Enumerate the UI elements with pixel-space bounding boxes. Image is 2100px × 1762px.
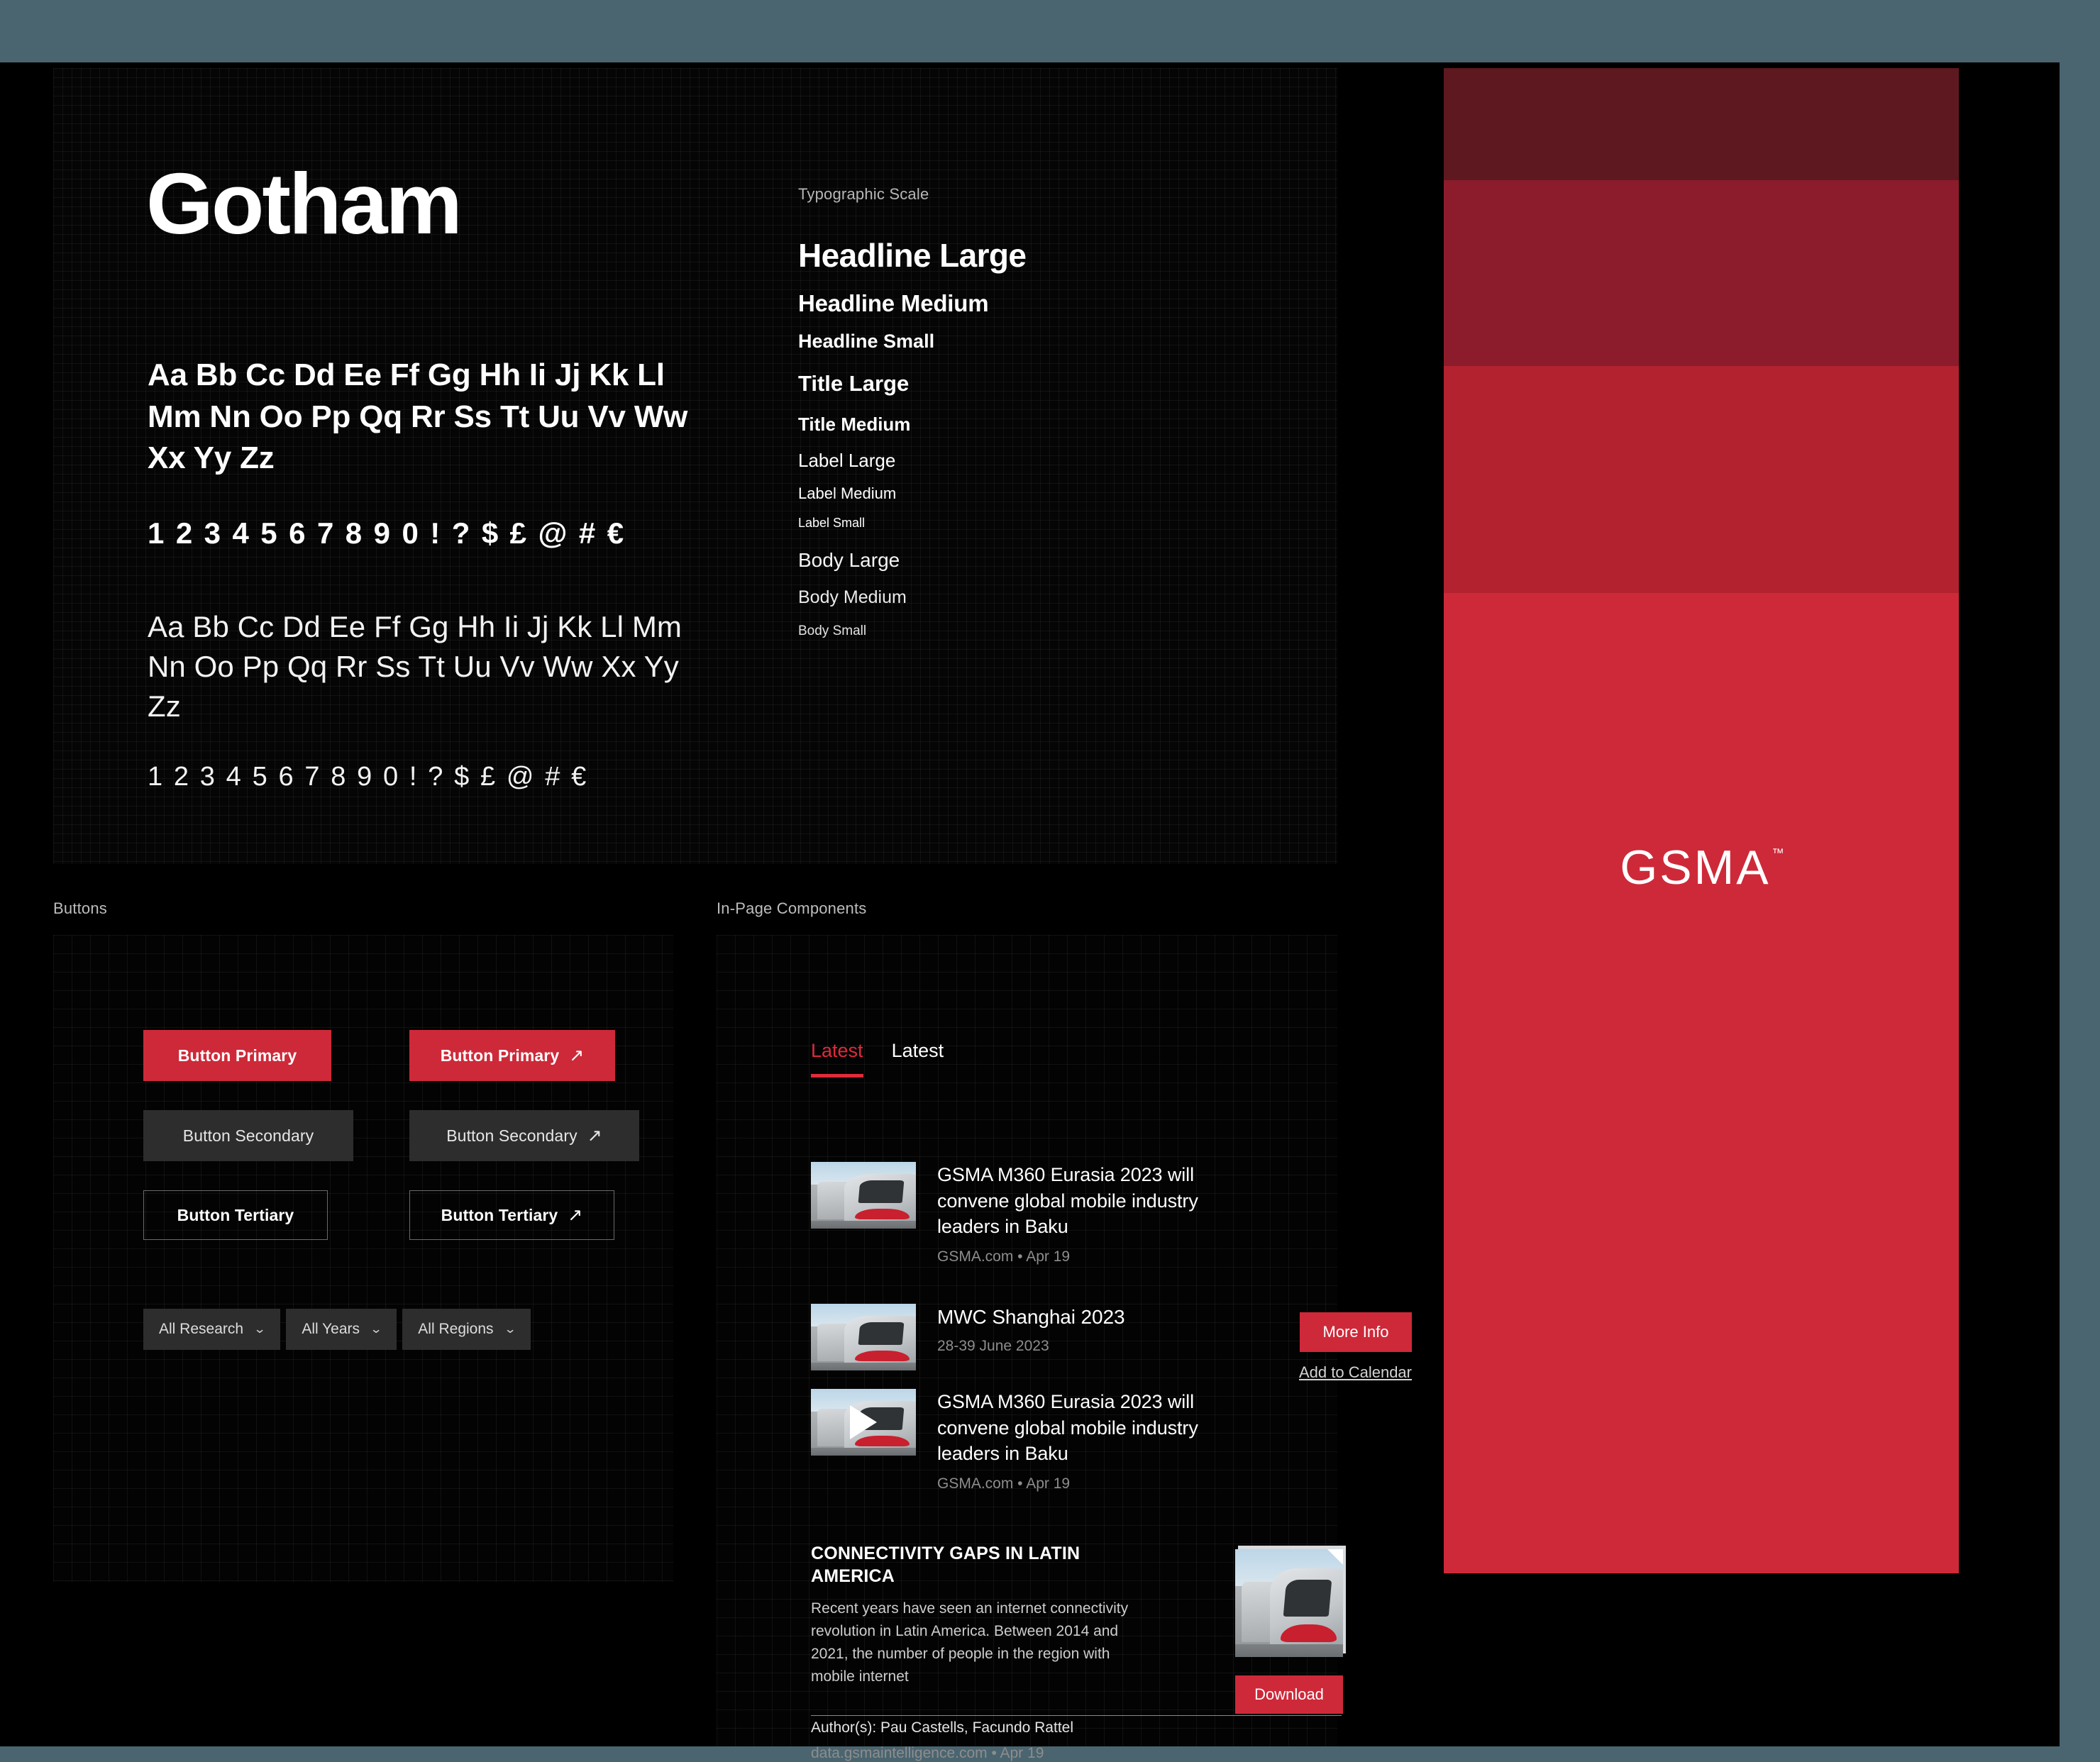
- button-tertiary[interactable]: Button Tertiary: [143, 1190, 328, 1240]
- list-item[interactable]: MWC Shanghai 2023 28-39 June 2023: [811, 1304, 1249, 1370]
- alphabet-bold-specimen: Aa Bb Cc Dd Ee Ff Gg Hh Ii Jj Kk Ll Mm N…: [148, 355, 715, 480]
- button-secondary[interactable]: Button Secondary: [143, 1110, 353, 1161]
- section-label-buttons: Buttons: [53, 899, 107, 918]
- page-fold-icon: [1327, 1549, 1343, 1565]
- filter-all-years-label: All Years: [302, 1321, 360, 1338]
- color-swatch-darkest: [1444, 68, 1959, 180]
- scale-body-small: Body Small: [798, 624, 1252, 639]
- chevron-down-icon: ⌄: [253, 1322, 266, 1336]
- card-meta: GSMA.com • Apr 19: [937, 1248, 1249, 1265]
- add-to-calendar-link[interactable]: Add to Calendar: [1270, 1363, 1412, 1382]
- scale-label-large: Label Large: [798, 450, 1252, 472]
- gsma-logo: GSMA™: [1444, 840, 1959, 895]
- button-secondary-external-label: Button Secondary: [446, 1126, 577, 1146]
- tab-latest-secondary-label: Latest: [892, 1040, 944, 1061]
- scale-title-large: Title Large: [798, 371, 1252, 397]
- scale-body-medium: Body Medium: [798, 587, 1252, 608]
- card-body: GSMA M360 Eurasia 2023 will convene glob…: [937, 1162, 1249, 1265]
- arrow-up-right-icon: ↗: [569, 1045, 584, 1066]
- scale-title-medium: Title Medium: [798, 414, 1252, 436]
- filter-all-research[interactable]: All Research ⌄: [143, 1309, 280, 1350]
- card-title: GSMA M360 Eurasia 2023 will convene glob…: [937, 1389, 1249, 1467]
- download-button[interactable]: Download: [1235, 1675, 1343, 1714]
- button-secondary-label: Button Secondary: [183, 1126, 314, 1146]
- screenshot-stage: Gotham Aa Bb Cc Dd Ee Ff Gg Hh Ii Jj Kk …: [0, 0, 2100, 1746]
- color-swatch-dark: [1444, 180, 1959, 366]
- font-family-name: Gotham: [146, 160, 460, 247]
- card-body: MWC Shanghai 2023 28-39 June 2023: [937, 1304, 1249, 1370]
- filter-all-years[interactable]: All Years ⌄: [286, 1309, 397, 1350]
- arrow-up-right-icon: ↗: [587, 1125, 602, 1146]
- list-item[interactable]: GSMA M360 Eurasia 2023 will convene glob…: [811, 1162, 1249, 1265]
- research-authors: Author(s): Pau Castells, Facundo Rattel: [811, 1719, 1144, 1736]
- scale-headline-small: Headline Small: [798, 331, 1252, 353]
- video-thumbnail[interactable]: [811, 1389, 916, 1456]
- card-title: MWC Shanghai 2023: [937, 1304, 1249, 1331]
- scale-headline-medium: Headline Medium: [798, 290, 1252, 317]
- scale-body-large: Body Large: [798, 549, 1252, 572]
- brand-color-panel: GSMA™: [1444, 68, 1959, 1573]
- button-secondary-external[interactable]: Button Secondary ↗: [409, 1110, 639, 1161]
- filter-chip-group: All Research ⌄ All Years ⌄ All Regions ⌄: [143, 1309, 531, 1350]
- color-swatch-mid: [1444, 366, 1959, 593]
- more-info-button[interactable]: More Info: [1300, 1312, 1412, 1352]
- buttons-panel: Button Primary Button Primary ↗ Button S…: [53, 935, 673, 1582]
- card-body: GSMA M360 Eurasia 2023 will convene glob…: [937, 1389, 1249, 1492]
- card-meta: 28-39 June 2023: [937, 1338, 1249, 1355]
- numerals-light-specimen: 1 2 3 4 5 6 7 8 9 0 ! ? $ £ @ # €: [148, 762, 588, 792]
- button-primary-external[interactable]: Button Primary ↗: [409, 1030, 615, 1081]
- tab-latest-secondary[interactable]: Latest: [892, 1040, 944, 1077]
- event-thumbnail: [811, 1304, 916, 1370]
- research-card[interactable]: CONNECTIVITY GAPS IN LATIN AMERICA Recen…: [811, 1542, 1343, 1762]
- article-thumbnail: [811, 1162, 916, 1229]
- typography-specimen-panel: Gotham Aa Bb Cc Dd Ee Ff Gg Hh Ii Jj Kk …: [53, 68, 1337, 864]
- tab-bar: Latest Latest: [811, 1040, 944, 1077]
- button-tertiary-external[interactable]: Button Tertiary ↗: [409, 1190, 614, 1240]
- numerals-bold-specimen: 1 2 3 4 5 6 7 8 9 0 ! ? $ £ @ # €: [148, 516, 626, 550]
- list-item[interactable]: GSMA M360 Eurasia 2023 will convene glob…: [811, 1389, 1249, 1492]
- button-primary[interactable]: Button Primary: [143, 1030, 331, 1081]
- report-cover-wrap: Download: [1235, 1549, 1343, 1762]
- gsma-logo-text: GSMA: [1620, 841, 1770, 894]
- event-actions: More Info Add to Calendar: [1270, 1312, 1412, 1382]
- alphabet-light-specimen: Aa Bb Cc Dd Ee Ff Gg Hh Ii Jj Kk Ll Mm N…: [148, 607, 715, 726]
- filter-all-regions-label: All Regions: [418, 1321, 493, 1338]
- scale-headline-large: Headline Large: [798, 236, 1252, 275]
- card-title: GSMA M360 Eurasia 2023 will convene glob…: [937, 1162, 1249, 1240]
- filter-all-research-label: All Research: [159, 1321, 243, 1338]
- button-tertiary-label: Button Tertiary: [177, 1206, 294, 1225]
- in-page-components-panel: Latest Latest GSMA M360 Eurasia 2023 wil…: [717, 935, 1337, 1746]
- tab-latest-active-label: Latest: [811, 1040, 863, 1061]
- scale-label-medium: Label Medium: [798, 484, 1252, 503]
- button-tertiary-external-label: Button Tertiary: [441, 1206, 558, 1225]
- chevron-down-icon: ⌄: [504, 1322, 516, 1336]
- color-swatch-brand: GSMA™: [1444, 593, 1959, 1573]
- research-text: CONNECTIVITY GAPS IN LATIN AMERICA Recen…: [811, 1542, 1144, 1762]
- card-divider: [811, 1715, 1342, 1716]
- typographic-scale-list: Typographic Scale Headline Large Headlin…: [798, 185, 1252, 639]
- typographic-scale-caption: Typographic Scale: [798, 185, 1252, 204]
- report-cover-thumbnail: [1235, 1549, 1343, 1657]
- section-label-components: In-Page Components: [717, 899, 867, 918]
- filter-all-regions[interactable]: All Regions ⌄: [402, 1309, 530, 1350]
- scale-label-small: Label Small: [798, 516, 1252, 531]
- research-source: data.gsmaintelligence.com • Apr 19: [811, 1745, 1144, 1762]
- research-description: Recent years have seen an internet conne…: [811, 1597, 1144, 1688]
- research-title: CONNECTIVITY GAPS IN LATIN AMERICA: [811, 1542, 1144, 1588]
- play-icon[interactable]: [850, 1405, 877, 1439]
- tab-latest-active[interactable]: Latest: [811, 1040, 863, 1077]
- button-primary-external-label: Button Primary: [441, 1046, 560, 1065]
- chevron-down-icon: ⌄: [370, 1322, 382, 1336]
- arrow-up-right-icon: ↗: [568, 1204, 582, 1226]
- card-meta: GSMA.com • Apr 19: [937, 1475, 1249, 1492]
- button-primary-label: Button Primary: [178, 1046, 297, 1065]
- trademark-icon: ™: [1772, 846, 1784, 860]
